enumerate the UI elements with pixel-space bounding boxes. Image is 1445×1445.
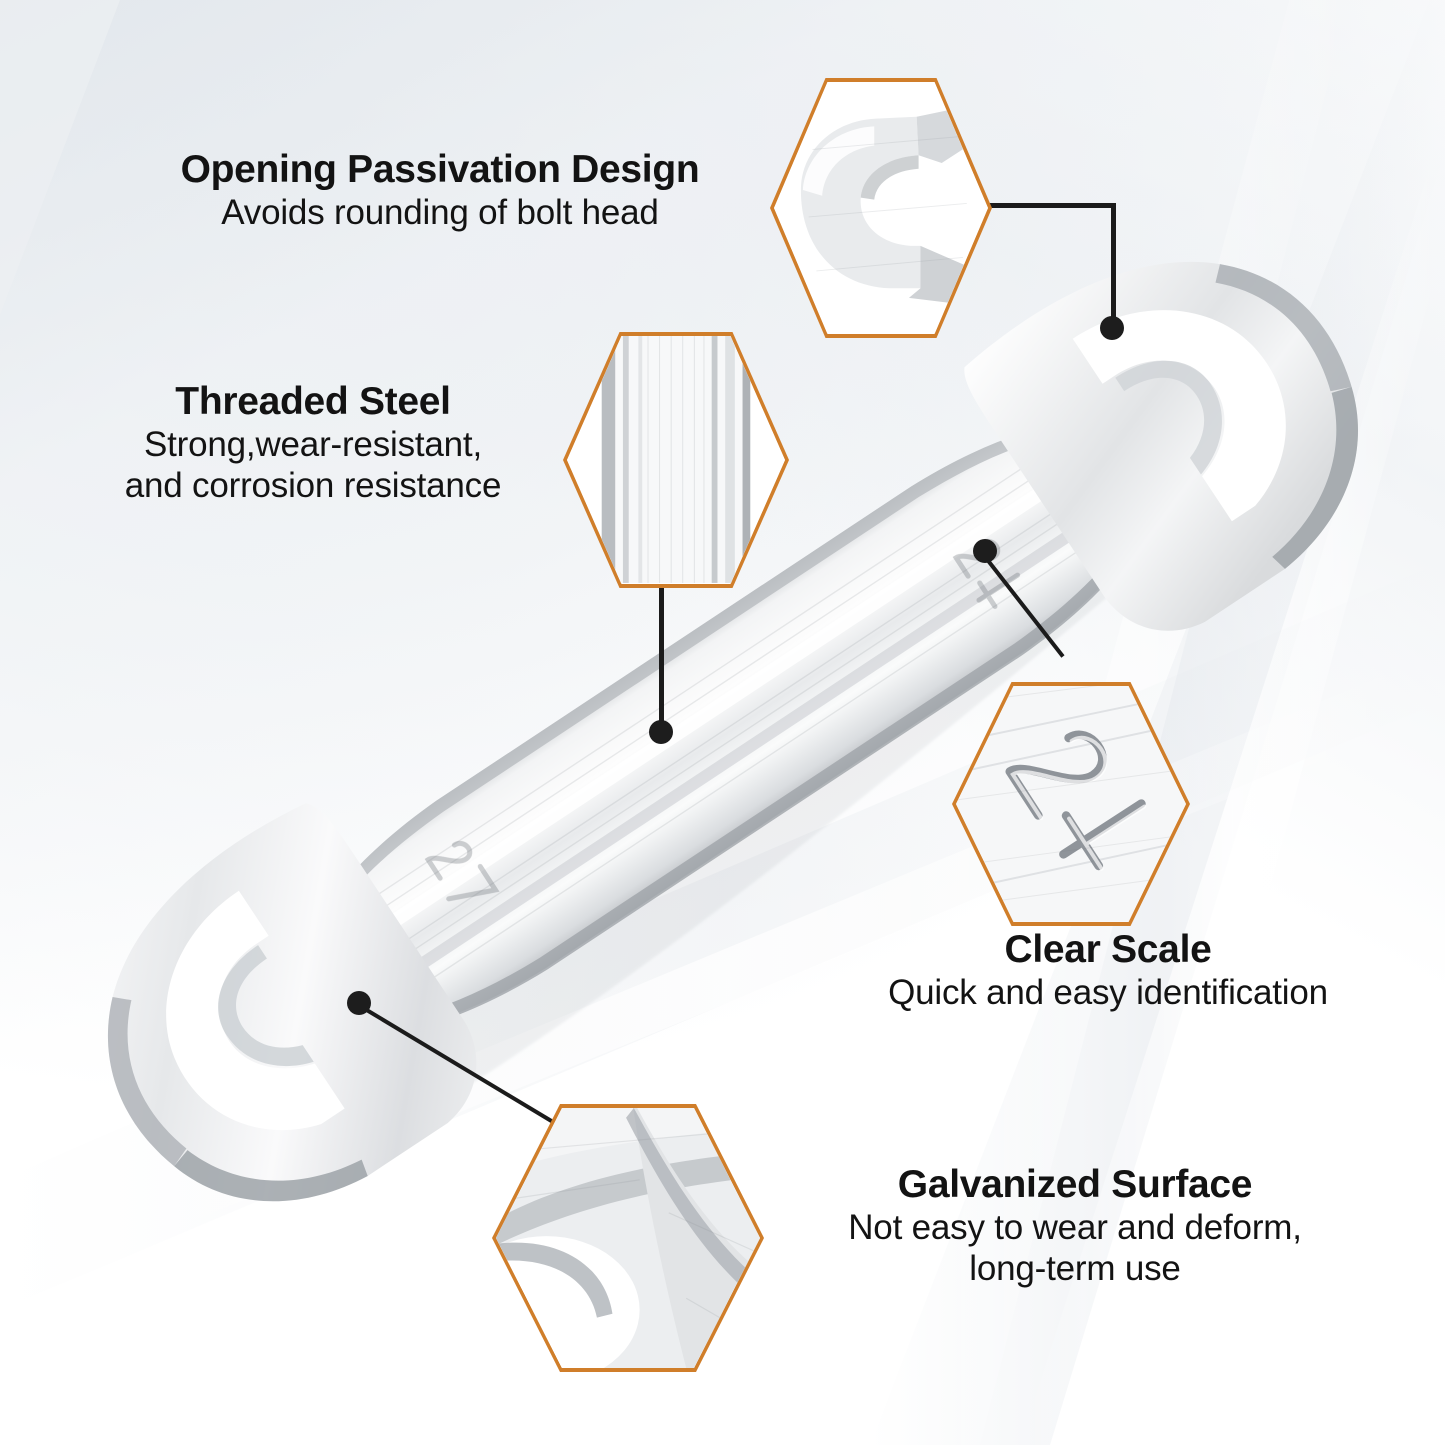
callout-subtitle-threaded-steel-line-2: and corrosion resistance xyxy=(70,465,556,506)
leader-dot-threaded xyxy=(649,720,673,744)
callout-subtitle-clear-scale-line-1: Quick and easy identification xyxy=(830,972,1386,1013)
callout-title-opening-passivation: Opening Passivation Design xyxy=(120,148,760,192)
leader-line-opening-vertical xyxy=(1111,203,1116,328)
callout-title-threaded-steel: Threaded Steel xyxy=(70,380,556,424)
callout-subtitle-opening-passivation-line-1: Avoids rounding of bolt head xyxy=(120,192,760,233)
callout-clear-scale: Clear Scale Quick and easy identificatio… xyxy=(830,928,1386,1013)
callout-subtitle-threaded-steel-line-1: Strong,wear-resistant, xyxy=(70,424,556,465)
callout-galvanized-surface: Galvanized Surface Not easy to wear and … xyxy=(770,1163,1380,1289)
callout-threaded-steel: Threaded Steel Strong,wear-resistant, an… xyxy=(70,380,556,506)
infographic-canvas: Opening Passivation Design Avoids roundi… xyxy=(0,0,1445,1445)
callout-subtitle-galvanized-surface-line-2: long-term use xyxy=(770,1248,1380,1289)
callout-subtitle-galvanized-surface-line-1: Not easy to wear and deform, xyxy=(770,1207,1380,1248)
leader-line-threaded xyxy=(659,586,664,734)
callout-opening-passivation: Opening Passivation Design Avoids roundi… xyxy=(120,148,760,233)
leader-dot-opening xyxy=(1100,316,1124,340)
leader-dot-clear-scale xyxy=(973,539,997,563)
callout-title-clear-scale: Clear Scale xyxy=(830,928,1386,972)
callout-title-galvanized-surface: Galvanized Surface xyxy=(770,1163,1380,1207)
leader-dot-galvanized xyxy=(347,991,371,1015)
leader-line-opening-horizontal xyxy=(988,203,1116,208)
